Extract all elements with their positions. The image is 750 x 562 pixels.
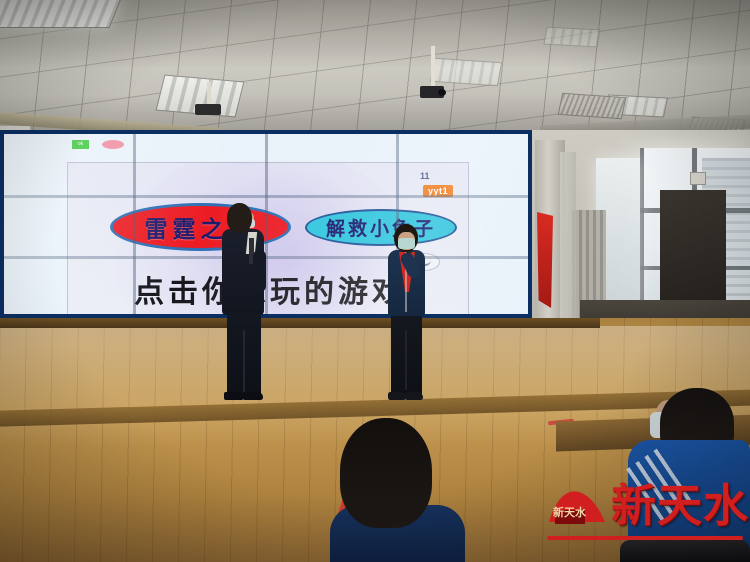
slide-badge: yyt1 <box>423 185 453 197</box>
student-hair <box>340 418 432 528</box>
video-wall-screen[interactable]: ok 11 yyt1 雷霆之战 解救小兔子 猫跑酷 点击你想玩的游戏 说明 你想… <box>4 134 528 314</box>
watermark-logo: 新天水 新天水 <box>545 478 745 548</box>
face-mask-icon <box>398 238 415 249</box>
teacher-head <box>227 203 252 233</box>
watermark-mark-text: 新天水 <box>553 504 586 520</box>
student-shoe <box>388 392 406 400</box>
status-mark-green: ok <box>72 140 89 149</box>
wall-outlet <box>690 172 706 185</box>
watermark-brand: 新天水 <box>611 478 749 534</box>
video-wall[interactable]: ok 11 yyt1 雷霆之战 解救小兔子 猫跑酷 点击你想玩的游戏 说明 你想… <box>0 130 532 318</box>
camera-lens-icon <box>438 89 446 96</box>
projector-mount-rod <box>207 82 211 106</box>
teacher-arm <box>253 250 266 292</box>
student-leg-split <box>405 330 407 390</box>
teacher-shoe <box>224 392 244 400</box>
red-flag <box>537 212 553 308</box>
camera-mount-rod <box>431 46 435 88</box>
teacher-leg-split <box>243 330 245 392</box>
screenshot-scene: ok 11 yyt1 雷霆之战 解救小兔子 猫跑酷 点击你想玩的游戏 说明 你想… <box>0 0 750 562</box>
projector-icon <box>195 104 221 115</box>
game-bubble-rescue-rabbit[interactable]: 解救小兔子 <box>305 209 457 246</box>
watermark-underline <box>547 536 743 540</box>
stage-edge <box>0 318 600 328</box>
status-mark-pink <box>102 140 124 149</box>
slide-page-number: 11 <box>420 171 430 181</box>
teacher-shoe <box>243 392 263 400</box>
student-shoe <box>405 392 423 400</box>
